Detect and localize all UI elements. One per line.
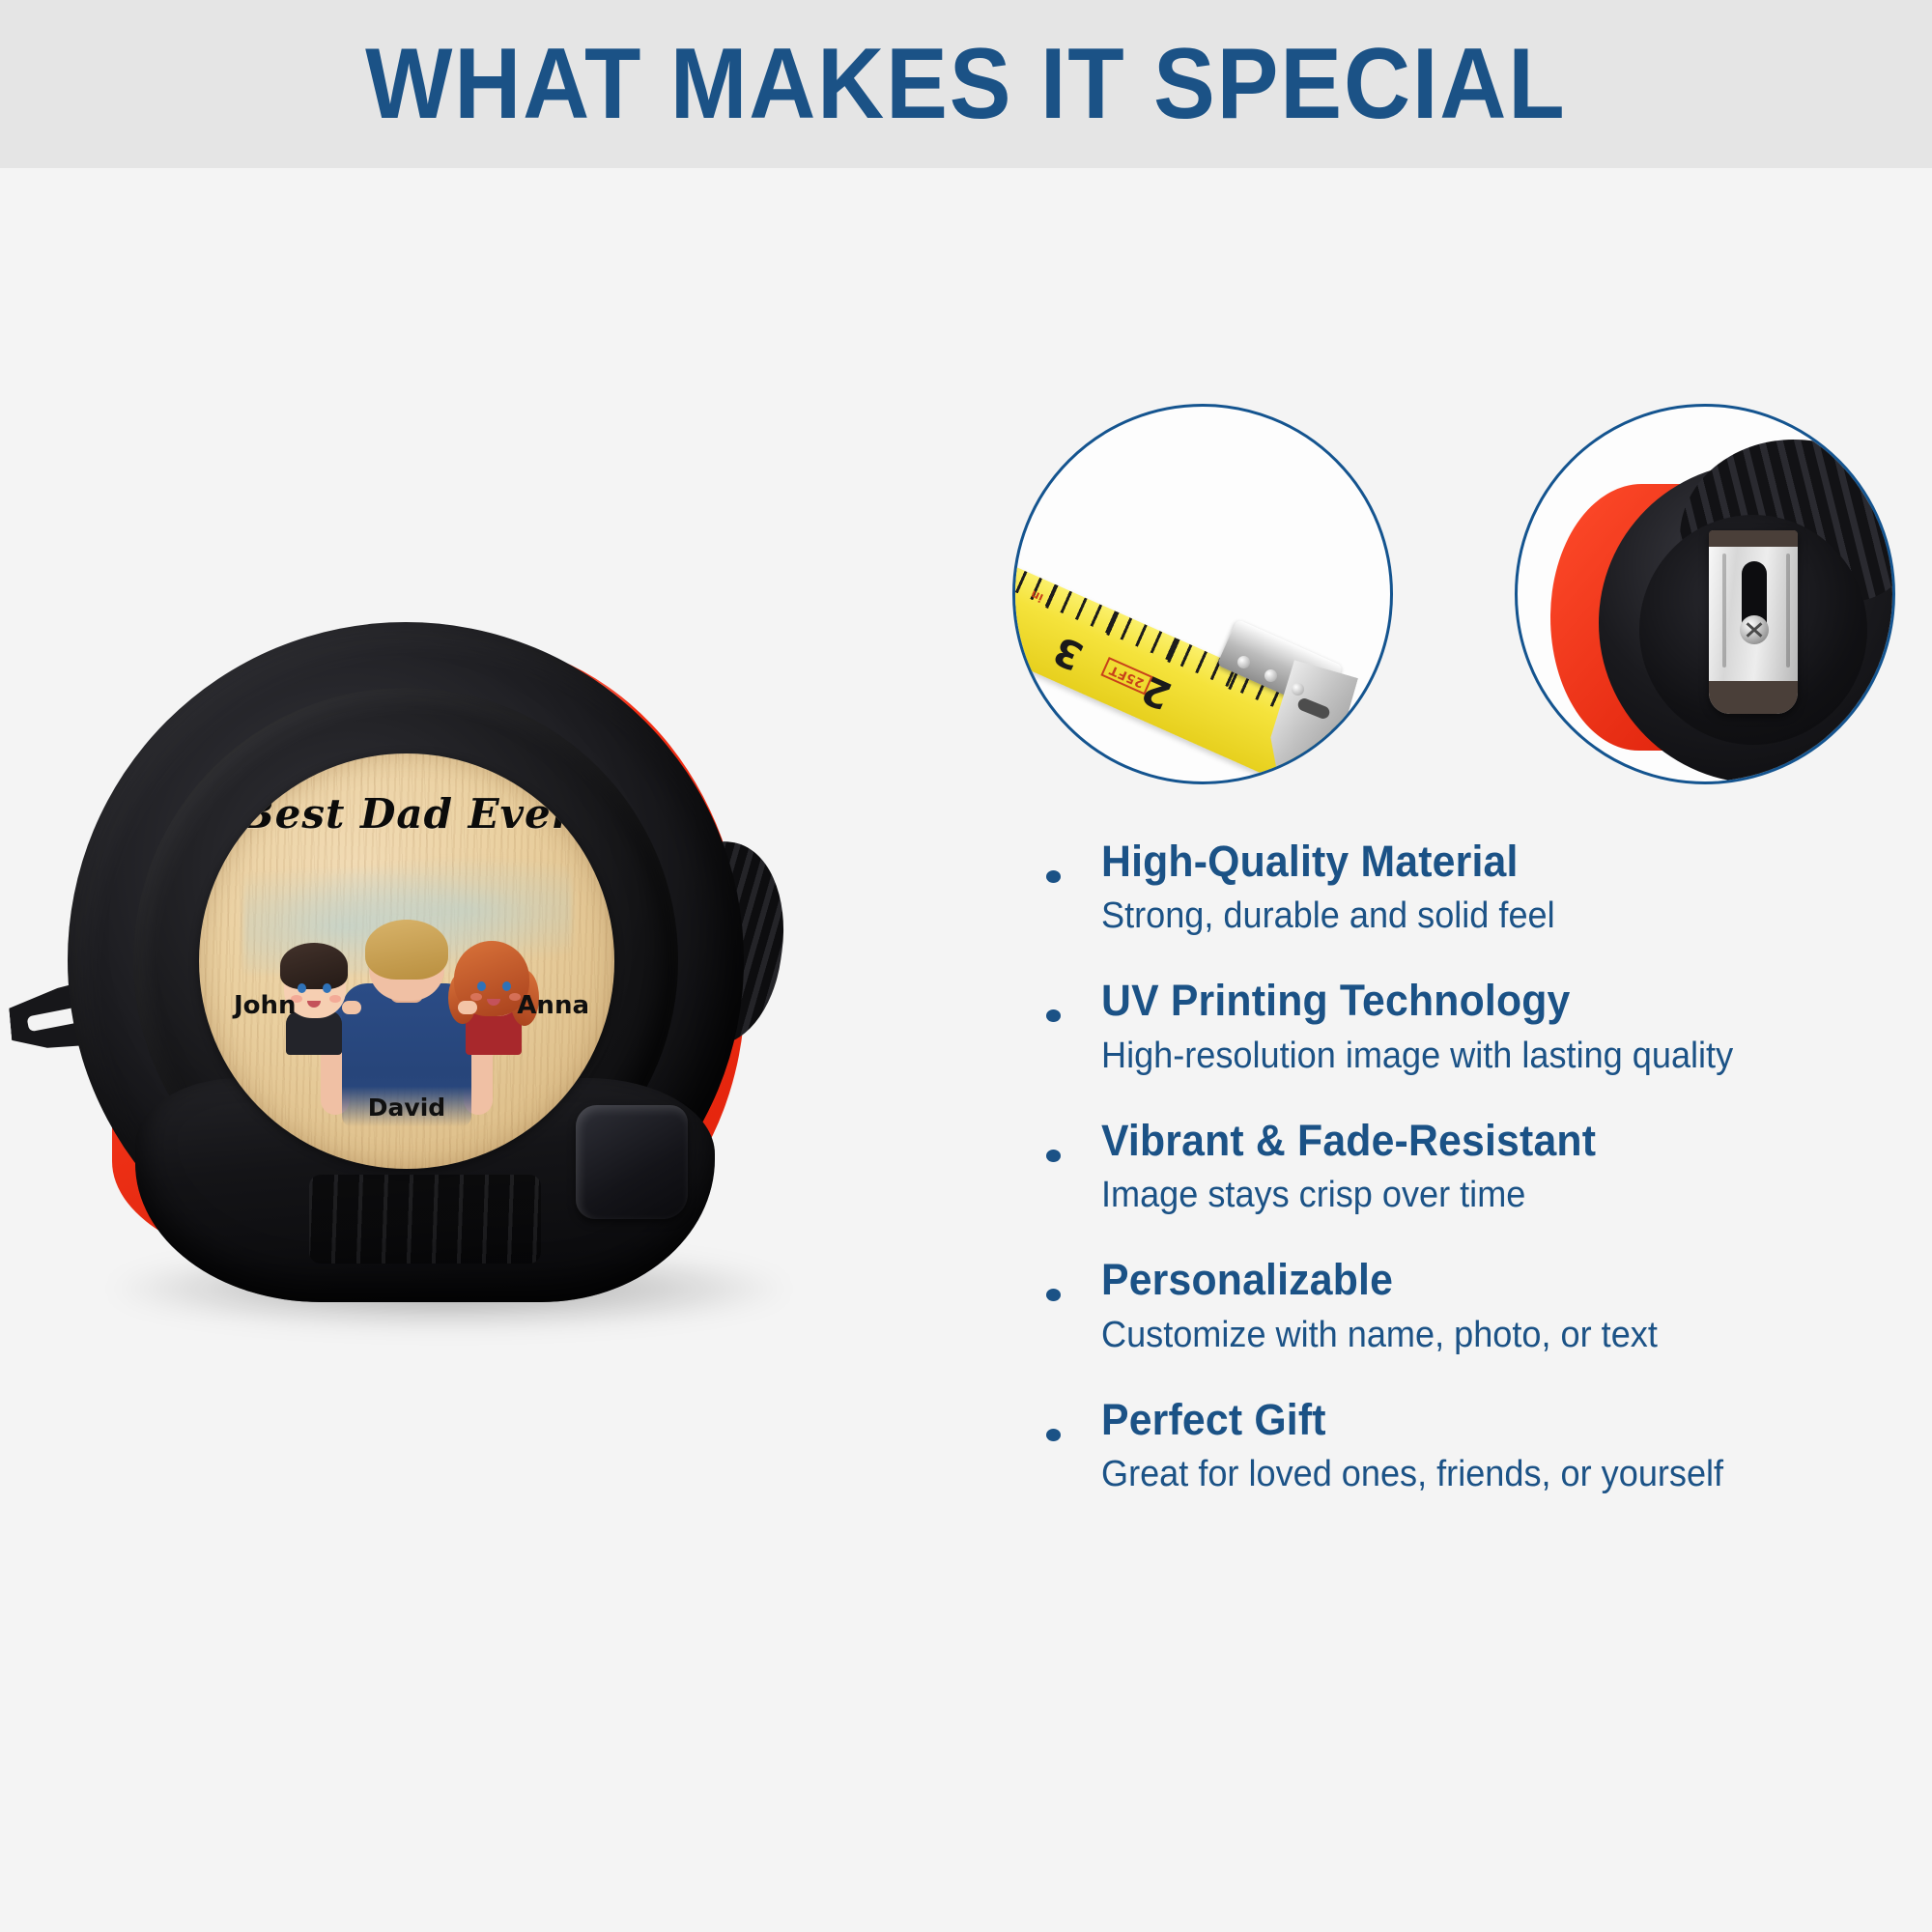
feature-item: UV Printing Technology High-resolution i…	[1038, 975, 1932, 1079]
belt-clip-groove-left	[1722, 554, 1726, 668]
girl-eye-right	[502, 981, 511, 991]
boy-eye-left	[298, 983, 306, 993]
feature-description: Great for loved ones, friends, or yourse…	[1101, 1451, 1890, 1498]
girl-eye-left	[477, 981, 486, 991]
hand-on-shoulder-right	[458, 1001, 477, 1014]
printed-wood-disc: Best Dad Ever	[199, 753, 614, 1169]
product-image-stage: Best Dad Ever	[0, 168, 976, 1932]
hook-rivet-1	[1237, 656, 1250, 668]
feature-title: Vibrant & Fade-Resistant	[1101, 1115, 1890, 1166]
bullet-dot-icon	[1046, 1289, 1061, 1301]
bullet-dot-icon	[1046, 1009, 1061, 1022]
tape-measure-product: Best Dad Ever	[19, 583, 947, 1347]
feature-description: Customize with name, photo, or text	[1101, 1312, 1890, 1359]
header-band: WHAT MAKES IT SPECIAL	[0, 0, 1932, 168]
disc-name-left: John	[234, 991, 297, 1020]
blade-number-3: 3	[1047, 627, 1090, 678]
bullet-dot-icon	[1046, 1150, 1061, 1162]
feature-description: Image stays crisp over time	[1101, 1172, 1890, 1219]
feature-description: Strong, durable and solid feel	[1101, 893, 1890, 940]
disc-name-right: Anna	[517, 991, 589, 1020]
page-title: WHAT MAKES IT SPECIAL	[365, 34, 1566, 134]
feature-item: Vibrant & Fade-Resistant Image stays cri…	[1038, 1115, 1932, 1219]
disc-name-center: David	[199, 1094, 614, 1122]
feature-title: Perfect Gift	[1101, 1394, 1890, 1445]
feature-item: High-Quality Material Strong, durable an…	[1038, 836, 1932, 940]
feature-item: Personalizable Customize with name, phot…	[1038, 1254, 1932, 1358]
feature-description: High-resolution image with lasting quali…	[1101, 1033, 1890, 1080]
boy-cheek-right	[329, 995, 341, 1003]
dad-hair	[365, 920, 448, 980]
feature-list: High-Quality Material Strong, durable an…	[1038, 836, 1932, 1533]
girl-cheek-left	[470, 993, 482, 1001]
feature-title: Personalizable	[1101, 1254, 1890, 1305]
boy-eye-right	[323, 983, 331, 993]
hand-on-shoulder-left	[342, 1001, 361, 1014]
hook-rivet-2	[1264, 669, 1277, 682]
hook-rivet-3	[1292, 683, 1304, 696]
feature-title: High-Quality Material	[1101, 836, 1890, 887]
feature-title: UV Printing Technology	[1101, 975, 1890, 1026]
feature-item: Perfect Gift Great for loved ones, frien…	[1038, 1394, 1932, 1498]
belt-clip-screw	[1740, 615, 1769, 644]
base-grip-ribs	[309, 1175, 541, 1264]
detail-circle-belt-clip	[1515, 404, 1895, 784]
belt-clip-groove-right	[1786, 554, 1790, 668]
boy-hair	[280, 943, 348, 989]
bullet-dot-icon	[1046, 870, 1061, 883]
bullet-dot-icon	[1046, 1429, 1061, 1441]
detail-circle-tape-blade: 3 2 25FT in	[1012, 404, 1393, 784]
